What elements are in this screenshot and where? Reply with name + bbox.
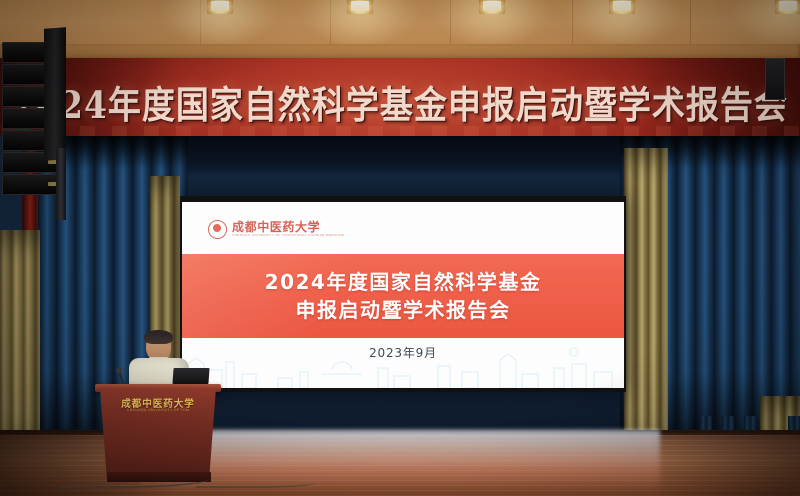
auditorium-photo: 2024年度国家自然科学基金申报启动暨学术报告会 成都中医药大学 CHENGDU… [0,0,800,496]
wall-speaker-right [765,58,785,100]
speaker-rigging-chain [56,148,66,220]
university-name-en: CHENGDU UNIVERSITY OF TRADITIONAL CHINES… [232,233,344,237]
slide-title-band: 2024年度国家自然科学基金 申报启动暨学术报告会 [182,254,624,338]
ceiling-downlight-icon [207,0,233,14]
ceiling [0,0,800,62]
line-array-module [2,174,64,195]
podium-laptop [172,368,209,384]
floor-shadow-right [650,430,800,496]
event-banner: 2024年度国家自然科学基金申报启动暨学术报告会 [0,58,800,142]
speaker-rigging-frame [44,27,66,161]
ceiling-downlight-icon [347,0,373,14]
gold-curtain-strip-far-left [0,230,40,430]
floor-cable [196,478,316,488]
gold-curtain-strip-right [624,148,668,434]
slide-cityscape-decoration-icon [182,344,624,388]
ceiling-downlight-icon [775,0,800,14]
university-emblem-icon [208,220,227,239]
university-name-cn: 成都中医药大学 [232,221,344,233]
slide-university-logo: 成都中医药大学 CHENGDU UNIVERSITY OF TRADITIONA… [208,218,344,240]
ceiling-downlight-icon [609,0,635,14]
presenter-hair [144,330,173,344]
podium-group: 成都中医药大学 CHENGDU UNIVERSITY OF TCM [95,330,225,490]
slide-title-line-2: 申报启动暨学术报告会 [296,299,511,321]
podium-university-subtext: CHENGDU UNIVERSITY OF TCM [100,408,216,412]
projection-screen-frame: 成都中医药大学 CHENGDU UNIVERSITY OF TRADITIONA… [180,196,626,392]
ceiling-downlight-icon [479,0,505,14]
slide-title-line-1: 2024年度国家自然科学基金 [265,271,542,293]
projection-screen: 成都中医药大学 CHENGDU UNIVERSITY OF TRADITIONA… [182,202,624,388]
